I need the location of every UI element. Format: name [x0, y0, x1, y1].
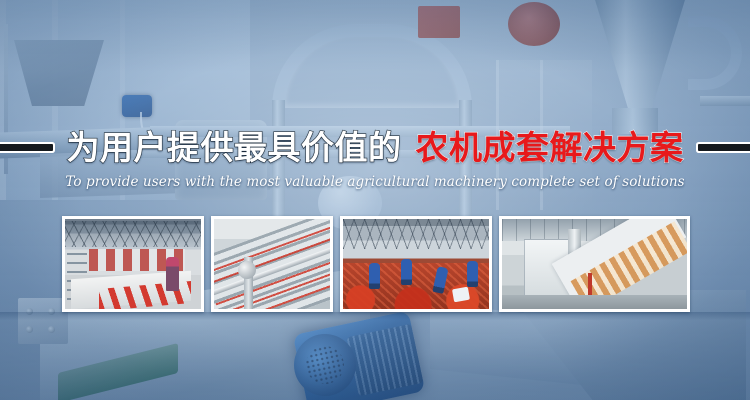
right-dash-icon — [698, 144, 750, 151]
thumbnail-item[interactable] — [499, 216, 690, 312]
hero-banner: 为用户提供最具价值的 农机成套解决方案 To provide users wit… — [0, 0, 750, 400]
worker-figure — [369, 263, 380, 289]
roof-truss — [343, 219, 489, 249]
workers-sorting-chilies-image — [343, 219, 489, 309]
thumbnail-item[interactable] — [211, 216, 333, 312]
conveyor-drum — [238, 261, 256, 279]
bucket-elevator-image — [502, 219, 687, 309]
factory-production-hall-image — [65, 219, 201, 309]
vignette-overlay — [0, 0, 750, 400]
inclined-conveyor-image — [214, 219, 330, 309]
thumbnail-item[interactable] — [340, 216, 492, 312]
thumbnail-strip — [62, 216, 684, 312]
floor-band — [502, 295, 687, 309]
headline-row: 为用户提供最具价值的 农机成套解决方案 — [0, 124, 750, 170]
thumbnail-item[interactable] — [62, 216, 204, 312]
subtitle: To provide users with the most valuable … — [0, 174, 750, 190]
white-sack — [452, 287, 470, 303]
worker-figure — [166, 257, 179, 291]
background-photo — [0, 0, 750, 400]
worker-figure — [401, 259, 412, 285]
roof-truss — [65, 221, 201, 247]
headline-red-text: 农机成套解决方案 — [416, 131, 684, 164]
strip-shadow — [0, 312, 750, 320]
worker-figure — [467, 261, 478, 287]
left-dash-icon — [0, 144, 53, 151]
headline-white-text: 为用户提供最具价值的 — [67, 131, 402, 164]
